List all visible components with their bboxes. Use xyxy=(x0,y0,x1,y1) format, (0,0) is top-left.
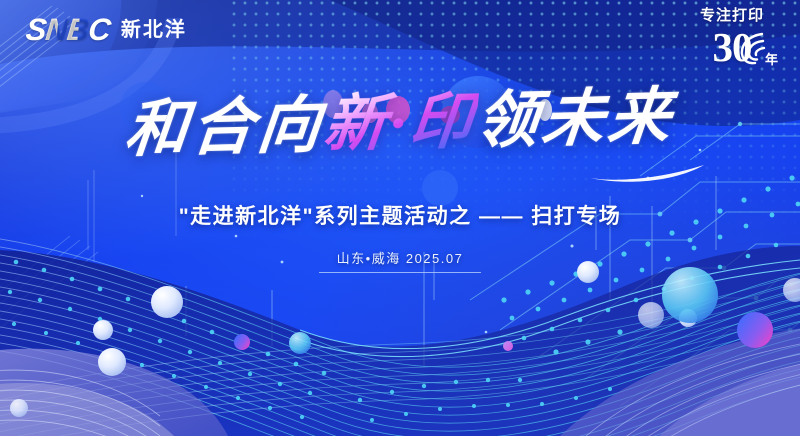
logo-wordmark-snbc: SNBC xyxy=(24,14,111,45)
subtitle: "走进新北洋"系列主题活动之 —— 扫打专场 xyxy=(0,200,800,230)
title-brush-swoosh-icon xyxy=(588,162,708,184)
event-banner: SNBC 新北洋 专注打印 30 年 和合向新·印领未来 "走进新北洋"系列主题… xyxy=(0,0,800,436)
main-title-part-3: 领未来 xyxy=(473,83,678,156)
main-title: 和合向新·印领未来 xyxy=(122,85,677,163)
logo-letter-c: C xyxy=(87,12,112,47)
main-title-block: 和合向新·印领未来 xyxy=(0,92,800,157)
anniversary-tagline: 专注打印 xyxy=(680,8,784,25)
logo-chinese-name: 新北洋 xyxy=(121,20,187,40)
brand-logo[interactable]: SNBC 新北洋 xyxy=(26,14,187,45)
anniversary-year-unit: 年 xyxy=(765,49,778,68)
anniversary-number-row: 30 年 xyxy=(680,26,784,70)
main-title-part-1: 和合向 xyxy=(122,92,327,165)
main-title-part-2-gradient: 新·印 xyxy=(321,88,480,160)
anniversary-badge: 专注打印 30 年 xyxy=(680,8,784,70)
meta-block: 山东•威海 2025.07 xyxy=(0,248,800,273)
location-and-date: 山东•威海 2025.07 xyxy=(319,248,482,273)
